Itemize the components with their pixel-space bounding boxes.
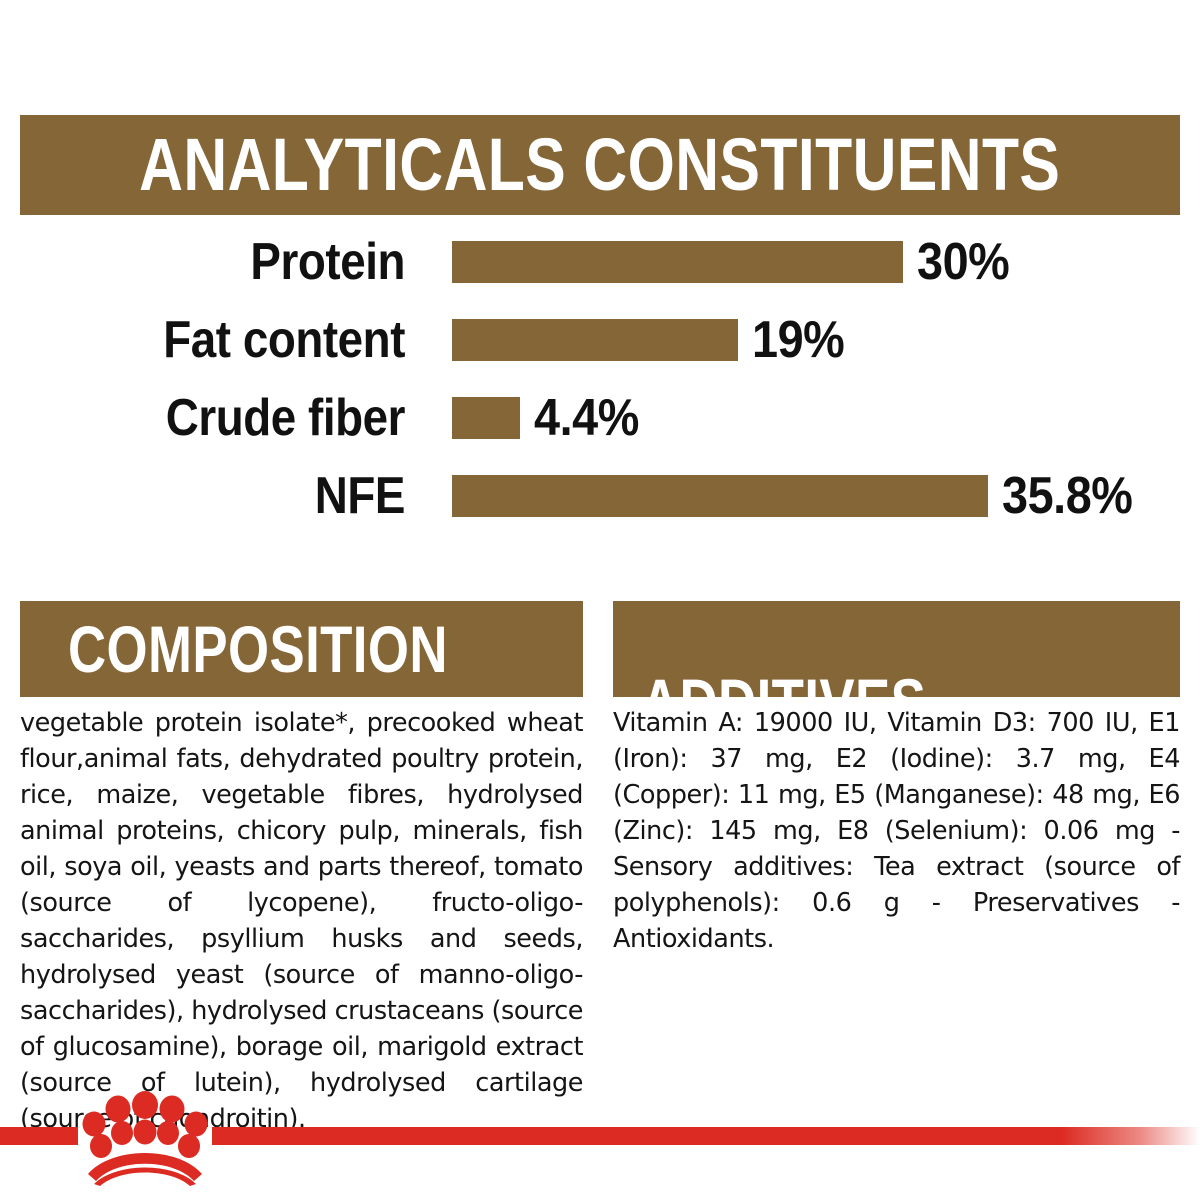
bar-label-fat-content: Fat content [49, 314, 405, 366]
analyticals-bar-chart: Protein 30% Fat content 19% Crude fiber … [0, 236, 1200, 546]
bar-label-nfe: NFE [49, 470, 405, 522]
bar-value-protein: 30% [917, 236, 1009, 288]
bar-track-nfe: 35.8% [452, 470, 1147, 522]
bar-value-nfe: 35.8% [1002, 470, 1132, 522]
bar-track-fat-content: 19% [452, 314, 855, 366]
additives-text: Vitamin A: 19000 IU, Vitamin D3: 700 IU,… [613, 705, 1180, 957]
bar-row-nfe: NFE 35.8% [0, 470, 1200, 522]
bar-track-protein: 30% [452, 236, 1020, 288]
bar-fill-fat-content [452, 319, 738, 361]
bar-label-protein: Protein [49, 236, 405, 288]
composition-title: COMPOSITION [68, 616, 448, 682]
bar-value-fat-content: 19% [752, 314, 844, 366]
footer-rule-right [212, 1127, 1200, 1145]
bar-label-crude-fiber: Crude fiber [49, 392, 405, 444]
royal-canin-crown-icon [78, 1088, 212, 1186]
footer [0, 1080, 1200, 1200]
footer-rule-left [0, 1127, 78, 1145]
bar-track-crude-fiber: 4.4% [452, 392, 651, 444]
nutrition-info-panel: ANALYTICALS CONSTITUENTS Protein 30% Fat… [0, 0, 1200, 1200]
analyticals-constituents-title: ANALYTICALS CONSTITUENTS [139, 128, 1060, 202]
composition-text: vegetable protein isolate*, precooked wh… [20, 705, 583, 1137]
bar-fill-nfe [452, 475, 988, 517]
bar-fill-crude-fiber [452, 397, 520, 439]
additives-title-row: ADDITIVES (per kg) [641, 669, 1070, 697]
composition-banner: COMPOSITION [20, 601, 583, 697]
bar-row-crude-fiber: Crude fiber 4.4% [0, 392, 1200, 444]
bar-row-fat-content: Fat content 19% [0, 314, 1200, 366]
bar-fill-protein [452, 241, 903, 283]
analyticals-constituents-banner: ANALYTICALS CONSTITUENTS [20, 115, 1180, 215]
additives-banner: ADDITIVES (per kg) [613, 601, 1180, 697]
bar-row-protein: Protein 30% [0, 236, 1200, 288]
bar-value-crude-fiber: 4.4% [534, 392, 639, 444]
additives-title: ADDITIVES [641, 669, 926, 697]
